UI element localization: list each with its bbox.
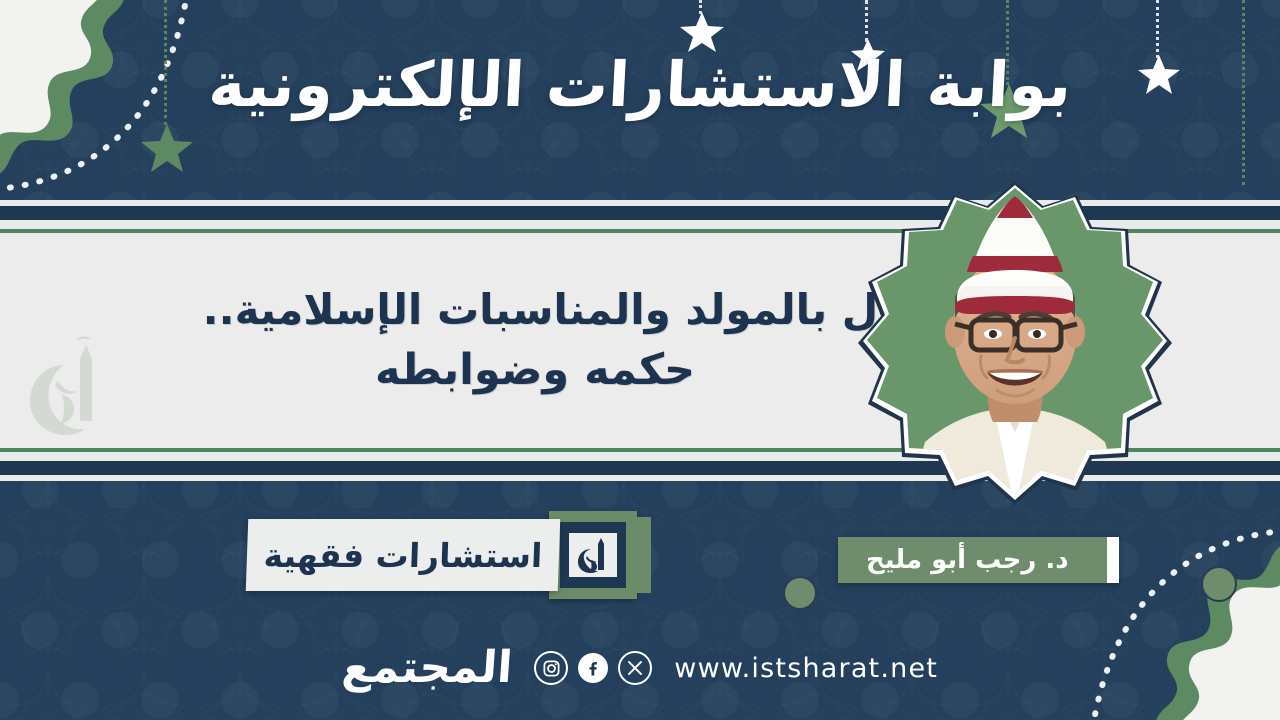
title-line-2: حكمه وضوابطه xyxy=(375,345,695,397)
portrait-frame xyxy=(845,180,1185,510)
instagram-icon[interactable] xyxy=(534,651,568,685)
footer: المجتمع www.istsharat.net xyxy=(0,632,1280,704)
website-url[interactable]: www.istsharat.net xyxy=(674,653,938,684)
x-icon[interactable] xyxy=(618,651,652,685)
facebook-icon[interactable] xyxy=(578,653,608,683)
mujtama-logo: المجتمع xyxy=(340,646,513,690)
social-links xyxy=(534,651,652,685)
badge-label: استشارات فقهية xyxy=(246,519,561,591)
badge-icon-frame-inner xyxy=(560,522,626,588)
rosette-dot-right xyxy=(1198,563,1240,605)
crescent-minaret-icon xyxy=(576,537,610,573)
banner-root: بوابة الاستشارات الإلكترونية الاحتفال با… xyxy=(0,0,1280,720)
badge-icon-frame xyxy=(549,511,637,599)
speaker-name-bar: د. رجب أبو مليح xyxy=(838,537,1119,583)
consultation-badge[interactable]: استشارات فقهية xyxy=(247,511,637,599)
rosette-dot-left xyxy=(780,573,820,613)
header-calligraphy-title: بوابة الاستشارات الإلكترونية xyxy=(0,46,1280,124)
speaker-accent xyxy=(1107,537,1119,583)
speaker-name: د. رجب أبو مليح xyxy=(838,537,1107,583)
speaker-portrait xyxy=(845,180,1185,510)
badge-icon-plate xyxy=(569,533,617,577)
star-icon xyxy=(141,122,193,172)
badge-accent-bar xyxy=(635,517,651,593)
